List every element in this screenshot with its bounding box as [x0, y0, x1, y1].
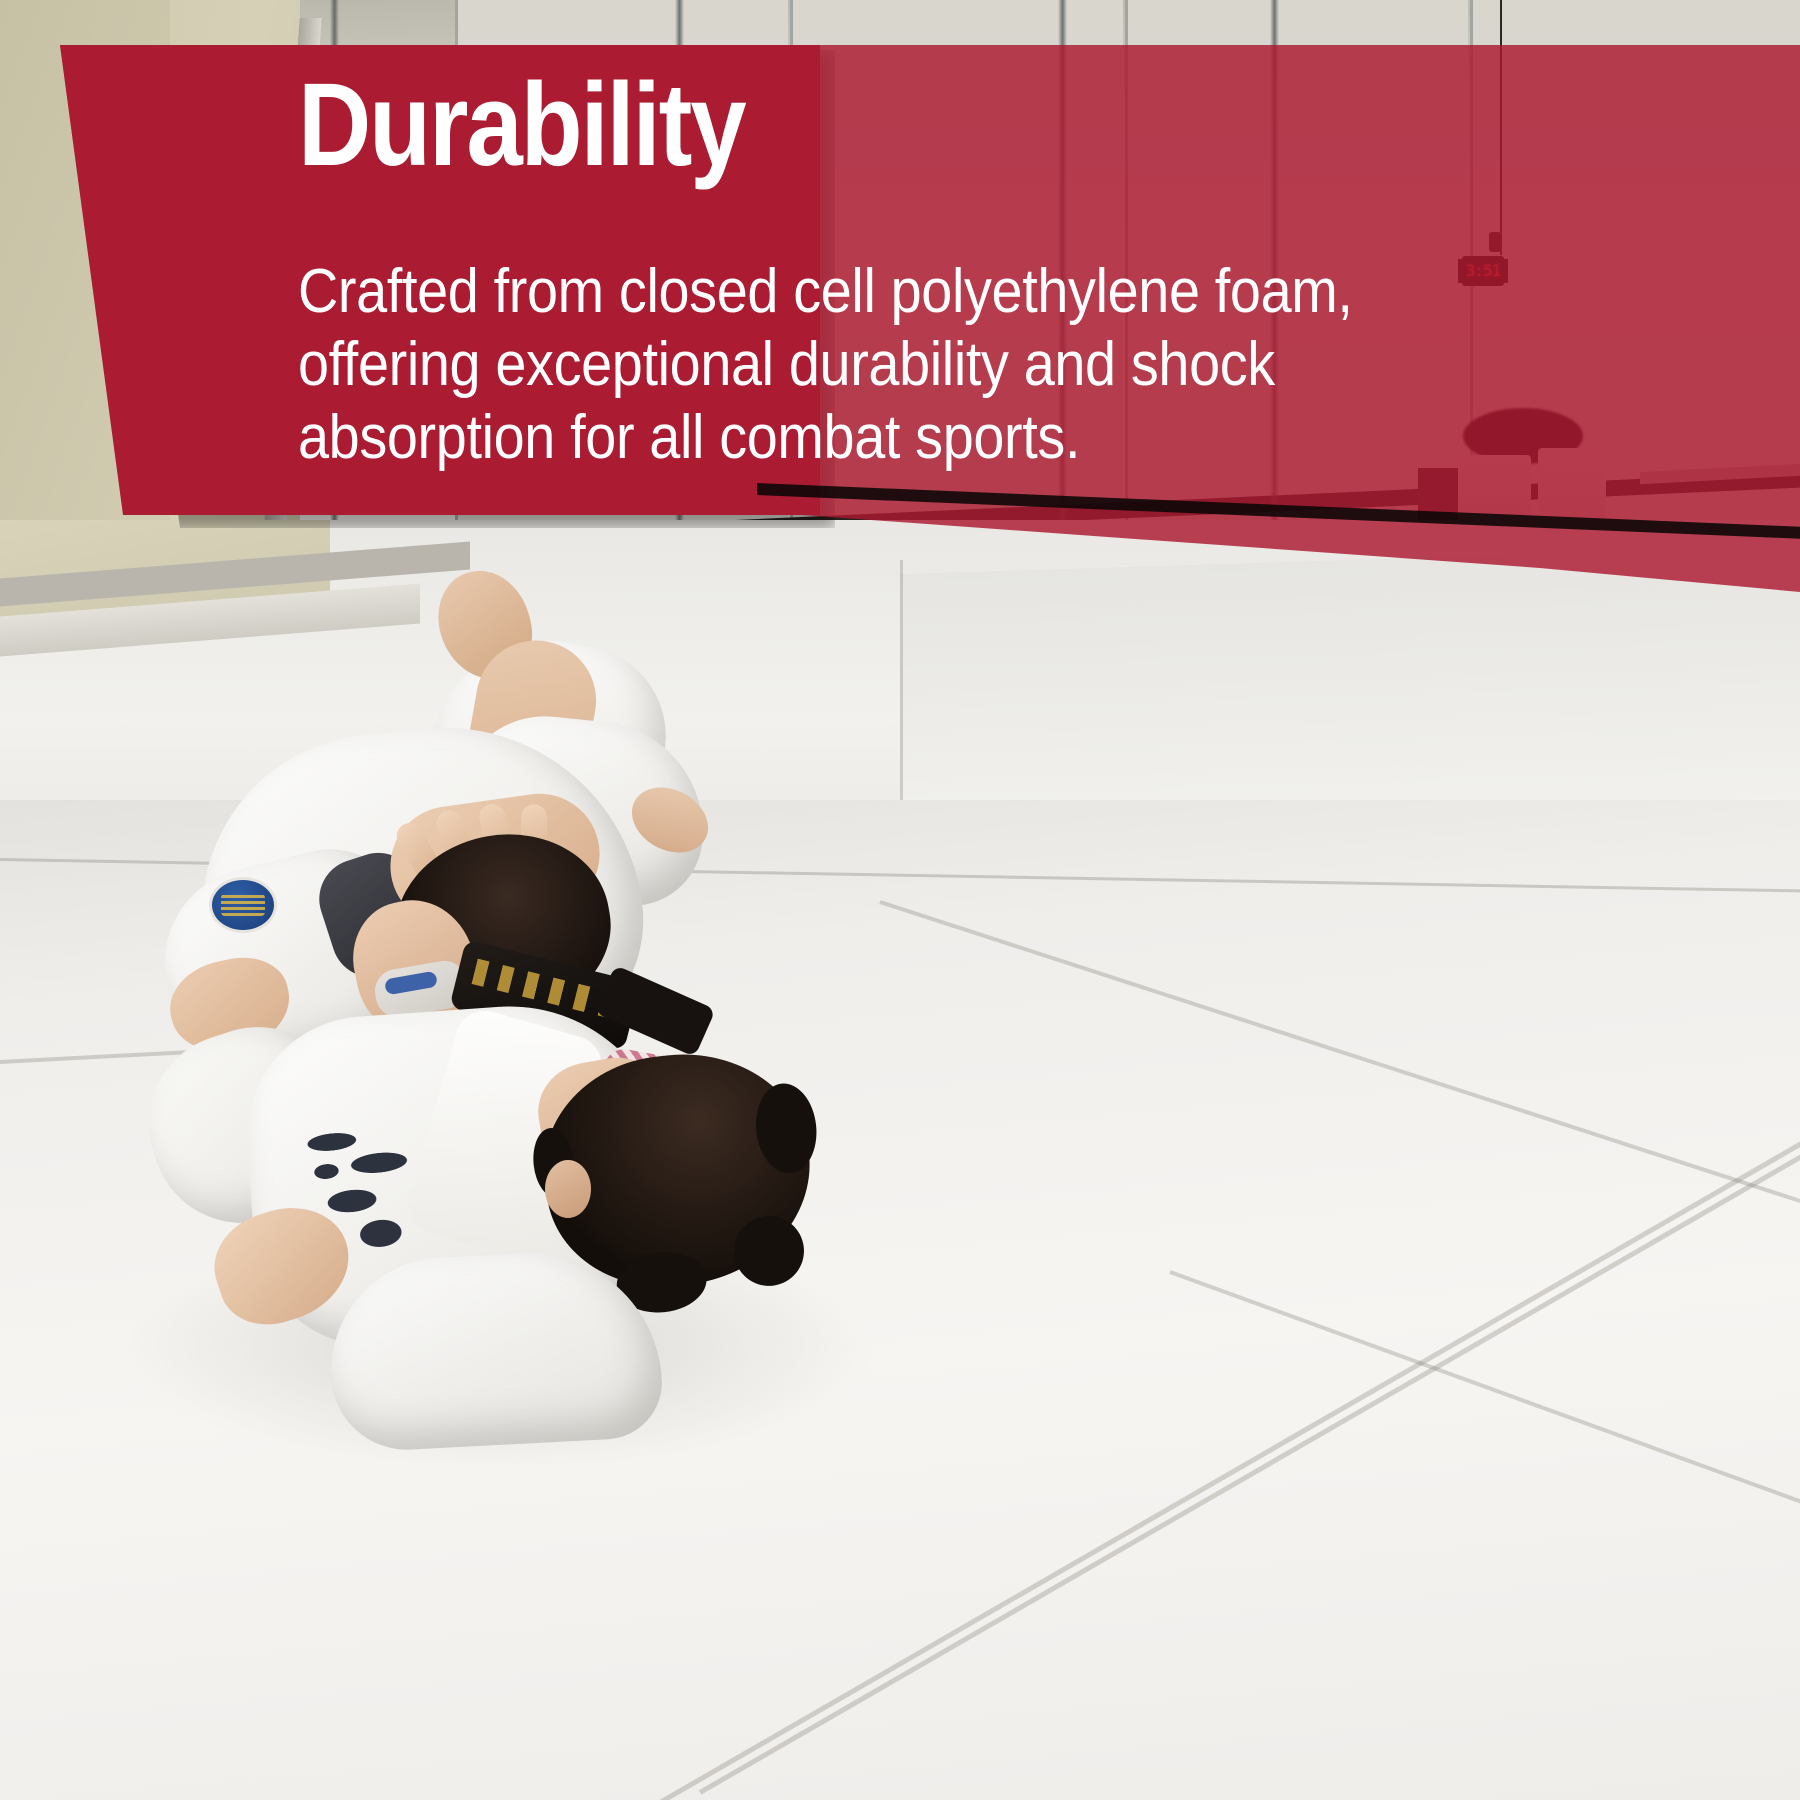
headline: Durability: [298, 66, 745, 184]
body-line-2: offering exceptional durability and shoc…: [298, 328, 1648, 401]
bottom-athlete-ear: [545, 1160, 591, 1218]
banner-copy: Durability Crafted from closed cell poly…: [0, 0, 1800, 600]
body-line-1: Crafted from closed cell polyethylene fo…: [298, 255, 1648, 328]
body-copy: Crafted from closed cell polyethylene fo…: [298, 255, 1648, 474]
promo-image: 3:51: [0, 0, 1800, 1800]
body-line-3: absorption for all combat sports.: [298, 401, 1648, 474]
gi-shoulder-patch: [212, 880, 274, 930]
